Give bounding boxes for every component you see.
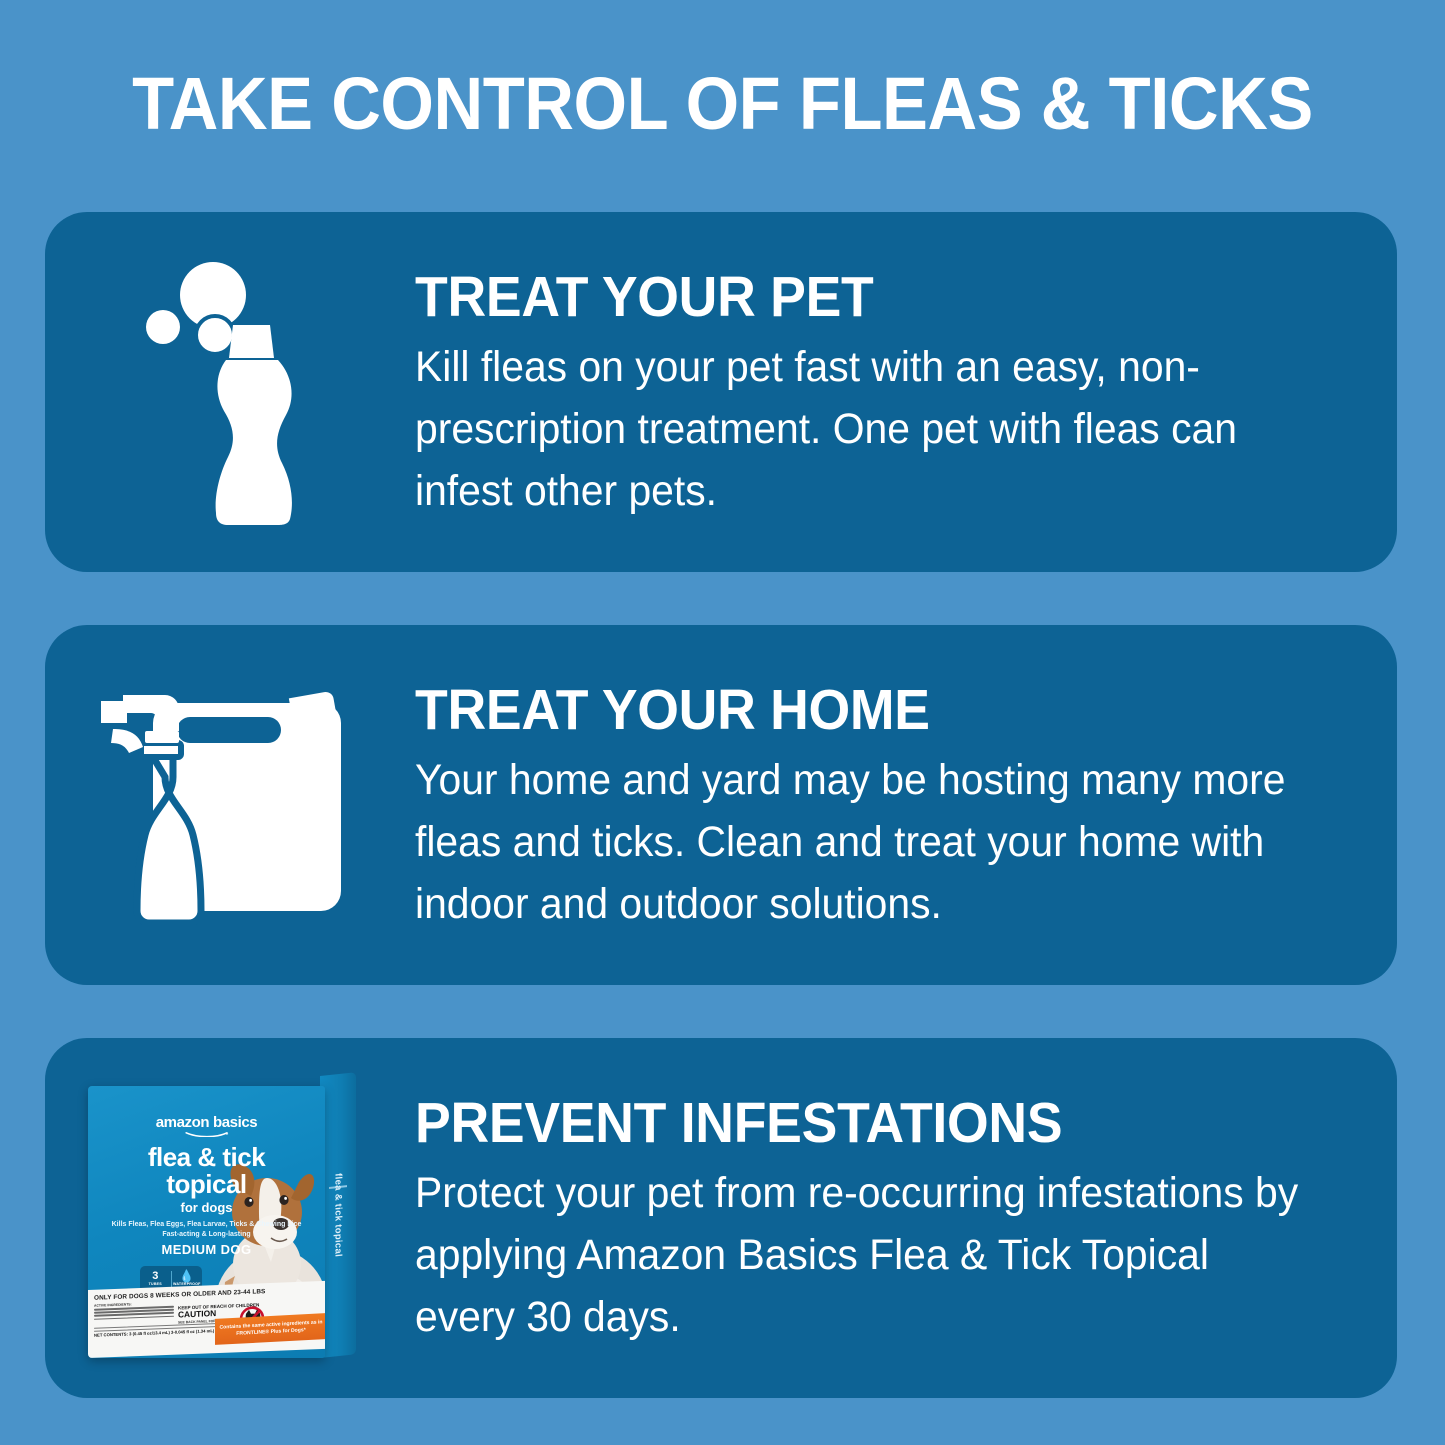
brand-name: amazon basics <box>88 1114 325 1131</box>
product-claims: Kills Fleas, Flea Eggs, Flea Larvae, Tic… <box>88 1220 325 1240</box>
info-card-treat-your-pet: TREAT YOUR PET Kill fleas on your pet fa… <box>45 212 1397 572</box>
card-heading: TREAT YOUR HOME <box>415 679 1291 741</box>
product-size: MEDIUM DOG <box>88 1242 325 1257</box>
card-body: PREVENT INFESTATIONS Protect your pet fr… <box>415 1088 1397 1348</box>
product-claim-line1: Kills Fleas, Flea Eggs, Flea Larvae, Tic… <box>88 1220 325 1230</box>
product-box-front: amazon basics flea & tick topical for do… <box>88 1086 325 1358</box>
card-heading: TREAT YOUR PET <box>415 266 1291 328</box>
info-card-treat-your-home: TREAT YOUR HOME Your home and yard may b… <box>45 625 1397 985</box>
tube-count-value: 3 <box>140 1271 171 1282</box>
product-box-image: flea & tick topical <box>45 1038 415 1398</box>
card-body: TREAT YOUR HOME Your home and yard may b… <box>415 675 1397 935</box>
amazon-smile-icon <box>181 1132 233 1137</box>
info-card-prevent-infestations: flea & tick topical <box>45 1038 1397 1398</box>
brand-lockup: amazon basics <box>88 1114 325 1137</box>
card-heading: PREVENT INFESTATIONS <box>415 1092 1291 1154</box>
product-title-line1: flea & tick <box>88 1144 325 1171</box>
waterproof-badge: 💧 WATERPROOF <box>172 1271 203 1287</box>
label-ingredient-lines <box>94 1306 174 1328</box>
frontline-banner-text: Contains the same active ingredients as … <box>219 1319 323 1338</box>
product-box-side-panel: flea & tick topical <box>320 1072 356 1358</box>
card-body: TREAT YOUR PET Kill fleas on your pet fa… <box>415 262 1397 522</box>
product-subtitle: for dogs <box>88 1200 325 1215</box>
product-claim-line2: Fast-acting & Long-lasting <box>88 1230 325 1240</box>
product-title-line2: topical <box>88 1171 325 1198</box>
tube-count-badge: 3 TUBES <box>140 1271 172 1287</box>
flea-tick-infographic: TAKE CONTROL OF FLEAS & TICKS TREAT YOUR… <box>0 0 1445 1445</box>
shampoo-bottle-with-bubbles-icon <box>45 212 415 572</box>
card-description: Kill fleas on your pet fast with an easy… <box>415 336 1300 522</box>
side-panel-text: flea & tick topical <box>333 1173 344 1258</box>
product-title: flea & tick topical <box>88 1144 325 1198</box>
spray-bottle-and-jug-icon <box>45 625 415 985</box>
page-title: TAKE CONTROL OF FLEAS & TICKS <box>51 62 1395 146</box>
card-description: Your home and yard may be hosting many m… <box>415 749 1300 935</box>
water-drop-icon: 💧 <box>172 1271 203 1282</box>
card-description: Protect your pet from re-occurring infes… <box>415 1162 1300 1348</box>
